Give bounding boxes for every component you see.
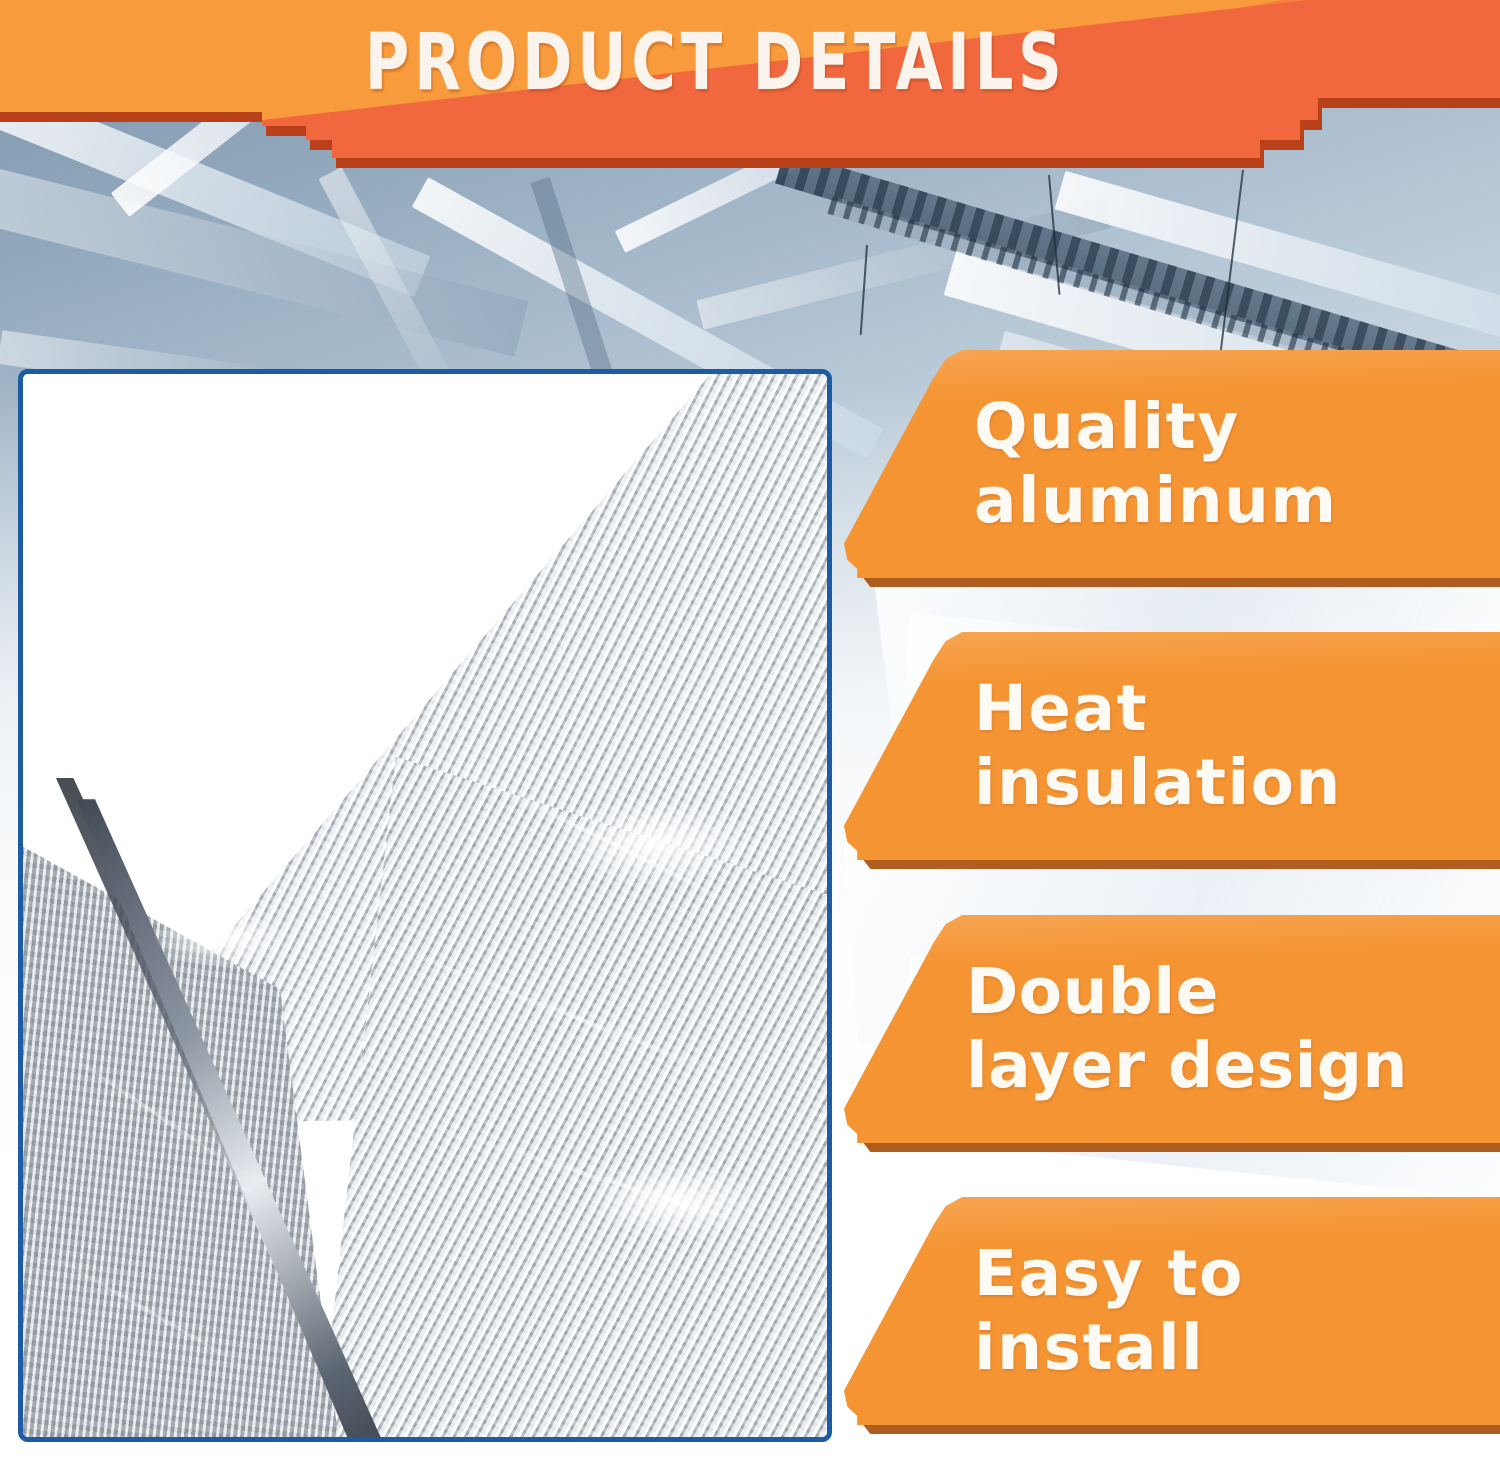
feature-badge-quality-aluminum[interactable]: Quality aluminum	[840, 350, 1500, 578]
feature-label: Heat insulation	[974, 672, 1490, 820]
header-banner: PRODUCT DETAILS	[0, 0, 1500, 168]
feature-badge-heat-insulation[interactable]: Heat insulation	[840, 632, 1500, 860]
product-image-frame	[18, 369, 832, 1442]
feature-label: Quality aluminum	[974, 390, 1490, 538]
feature-badge-double-layer-design[interactable]: Double layer design	[840, 915, 1500, 1143]
product-details-infographic: PRODUCT DETAILS	[0, 0, 1500, 1462]
feature-badge-easy-to-install[interactable]: Easy to install	[840, 1197, 1500, 1425]
foil-highlight	[441, 438, 601, 508]
feature-label: Double layer design	[966, 955, 1490, 1103]
ceiling-beam	[0, 151, 529, 357]
product-photo	[23, 374, 827, 1437]
feature-label: Easy to install	[974, 1237, 1490, 1385]
foil-highlight	[216, 565, 336, 619]
